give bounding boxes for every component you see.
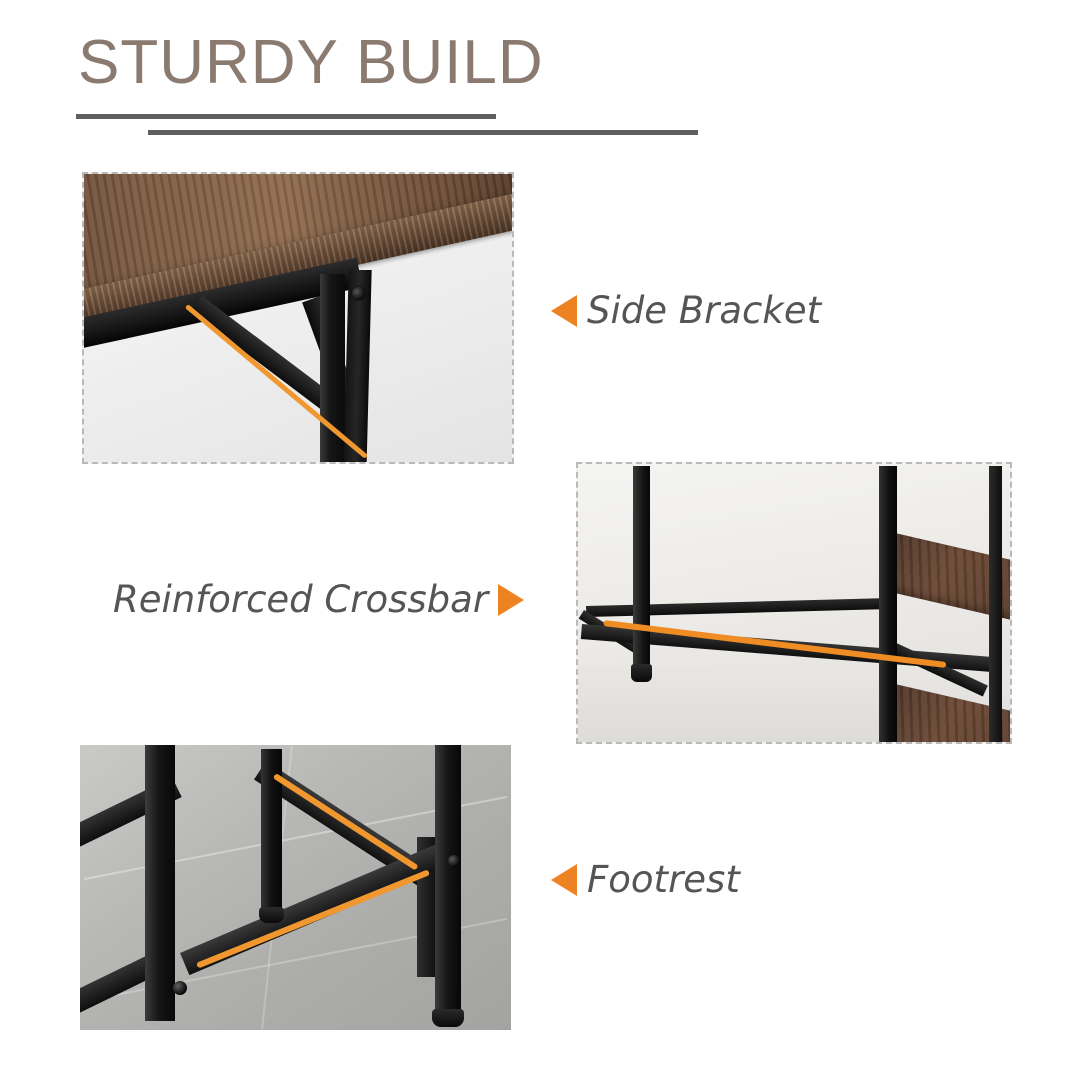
- bolt-icon: [173, 981, 187, 995]
- triangle-left-icon: [551, 864, 577, 896]
- callout-side-bracket-label: Side Bracket: [587, 291, 821, 332]
- triangle-left-icon: [551, 295, 577, 327]
- stool-leg-right: [435, 745, 461, 1017]
- panel-reinforced-crossbar: [576, 462, 1012, 744]
- panel-side-bracket: [82, 172, 514, 464]
- callout-footrest: Footrest: [551, 860, 740, 901]
- panel-footrest: [80, 745, 511, 1030]
- bolt-icon: [352, 287, 365, 300]
- bolt-icon: [448, 855, 460, 867]
- leg-foot-cap: [259, 907, 284, 923]
- frame-post-center: [879, 466, 897, 742]
- callout-reinforced-crossbar: Reinforced Crossbar: [113, 580, 524, 621]
- callout-footrest-label: Footrest: [587, 860, 740, 901]
- infographic-canvas: STURDY BUILD: [0, 0, 1090, 1090]
- title-rule-lower: [148, 130, 698, 135]
- page-title: STURDY BUILD: [78, 32, 544, 94]
- title-rule-upper: [76, 114, 496, 119]
- frame-post-right: [989, 466, 1002, 742]
- frame-post-left: [633, 466, 650, 674]
- callout-side-bracket: Side Bracket: [551, 291, 821, 332]
- panel-reinforced-crossbar-image: [578, 464, 1010, 742]
- stool-leg-left: [145, 745, 175, 1021]
- leg-foot-cap: [432, 1009, 464, 1027]
- panel-footrest-image: [80, 745, 511, 1030]
- leg-foot-cap: [631, 664, 652, 682]
- callout-reinforced-crossbar-label: Reinforced Crossbar: [113, 580, 488, 621]
- panel-side-bracket-image: [84, 174, 512, 462]
- triangle-right-icon: [498, 584, 524, 616]
- stool-leg-center: [261, 749, 282, 909]
